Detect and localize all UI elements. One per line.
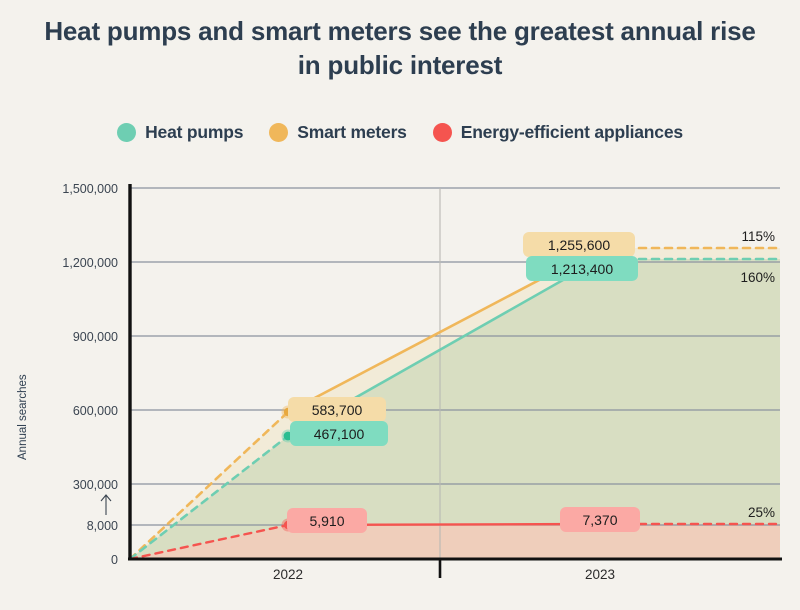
data-label-heat-pumps-2023: 1,213,400: [526, 256, 638, 281]
area-heat-pumps: [130, 259, 780, 559]
legend-label-appliances: Energy-efficient appliances: [461, 122, 683, 143]
chart-container: 1,500,000 1,200,000 900,000 600,000 300,…: [0, 170, 800, 610]
x-tick-2022: 2022: [273, 567, 303, 582]
page-title: Heat pumps and smart meters see the grea…: [0, 14, 800, 83]
legend-dot-appliances-icon: [433, 123, 452, 142]
data-label-appliances-2022: 5,910: [287, 508, 367, 533]
legend-item-heat-pumps[interactable]: Heat pumps: [117, 122, 243, 143]
y-tick-8000: 8,000: [87, 519, 118, 533]
chart-legend: Heat pumps Smart meters Energy-efficient…: [0, 122, 800, 143]
legend-item-appliances[interactable]: Energy-efficient appliances: [433, 122, 683, 143]
legend-label-smart-meters: Smart meters: [297, 122, 406, 143]
data-label-heat-pumps-2022: 467,100: [290, 421, 388, 446]
data-label-smart-meters-2023: 1,255,600: [523, 232, 635, 257]
legend-dot-smart-meters-icon: [269, 123, 288, 142]
growth-label-smart-meters: 115%: [741, 229, 775, 244]
data-label-smart-meters-2022-text: 583,700: [312, 402, 363, 418]
legend-item-smart-meters[interactable]: Smart meters: [269, 122, 406, 143]
y-tick-1200000: 1,200,000: [62, 256, 118, 270]
data-label-smart-meters-2022: 583,700: [288, 397, 386, 422]
y-axis-ticks: 1,500,000 1,200,000 900,000 600,000 300,…: [62, 182, 118, 567]
y-tick-300000: 300,000: [73, 478, 118, 492]
legend-dot-heat-pumps-icon: [117, 123, 136, 142]
y-tick-900000: 900,000: [73, 330, 118, 344]
data-label-appliances-2023: 7,370: [560, 507, 640, 532]
data-label-smart-meters-2023-text: 1,255,600: [548, 237, 610, 253]
y-axis-break-arrow-icon: [101, 495, 111, 515]
y-tick-0: 0: [111, 553, 118, 567]
y-tick-600000: 600,000: [73, 404, 118, 418]
legend-label-heat-pumps: Heat pumps: [145, 122, 243, 143]
data-label-appliances-2022-text: 5,910: [309, 513, 344, 529]
data-label-heat-pumps-2023-text: 1,213,400: [551, 261, 613, 277]
x-tick-2023: 2023: [585, 567, 615, 582]
growth-label-heat-pumps: 160%: [740, 270, 775, 285]
x-axis-ticks: 2022 2023: [273, 567, 615, 582]
growth-label-appliances: 25%: [748, 505, 775, 520]
data-label-appliances-2023-text: 7,370: [582, 512, 617, 528]
y-tick-1500000: 1,500,000: [62, 182, 118, 196]
y-axis-title: Annual searches: [17, 374, 29, 460]
data-label-heat-pumps-2022-text: 467,100: [314, 426, 365, 442]
line-chart[interactable]: 1,500,000 1,200,000 900,000 600,000 300,…: [0, 170, 800, 610]
